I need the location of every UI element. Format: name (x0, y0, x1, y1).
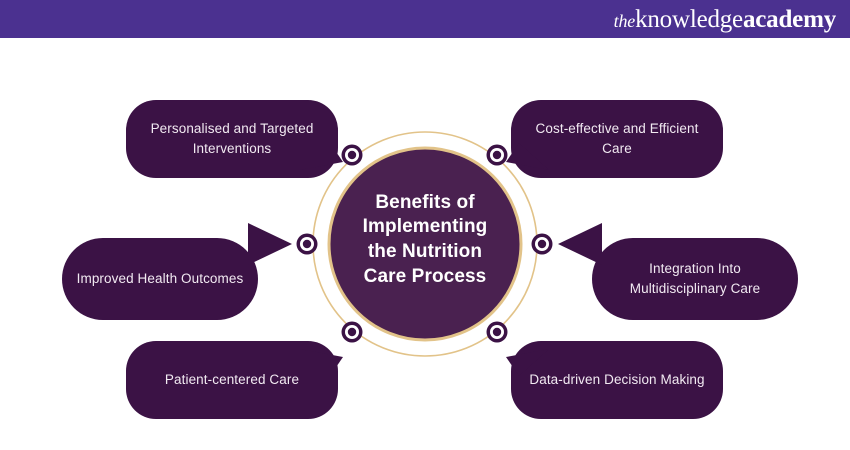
brand-logo: theknowledgeacademy (614, 7, 836, 32)
bubble-data-driven-decision-making[interactable] (506, 341, 723, 419)
header-bar: theknowledgeacademy (0, 0, 850, 38)
brand-mid: knowledge (635, 7, 743, 32)
hub-and-spoke-diagram: Benefits of Implementing the Nutrition C… (0, 38, 850, 450)
bubble-integration-multidisciplinary-care[interactable] (558, 223, 798, 320)
hub-circle[interactable] (329, 148, 521, 340)
brand-prefix: the (614, 12, 635, 30)
bubble-body (592, 238, 798, 320)
node-marker-bottom-right[interactable] (487, 322, 508, 343)
diagram-graphics (0, 38, 850, 450)
node-marker-top-right[interactable] (487, 145, 508, 166)
node-marker-top-left[interactable] (342, 145, 363, 166)
bubble-patient-centered-care[interactable] (126, 341, 343, 419)
node-marker-middle-left[interactable] (297, 234, 318, 255)
node-marker-bottom-left[interactable] (342, 322, 363, 343)
bubble-cost-effective-efficient-care[interactable] (506, 100, 723, 178)
bubble-personalised-targeted-interventions[interactable] (126, 100, 343, 178)
brand-suffix: academy (743, 7, 836, 32)
bubble-tail (248, 223, 292, 265)
bubble-tail (558, 223, 602, 265)
infographic-canvas: theknowledgeacademy (0, 0, 850, 450)
node-marker-middle-right[interactable] (532, 234, 553, 255)
bubble-body (62, 238, 258, 320)
bubble-improved-health-outcomes[interactable] (62, 223, 292, 320)
